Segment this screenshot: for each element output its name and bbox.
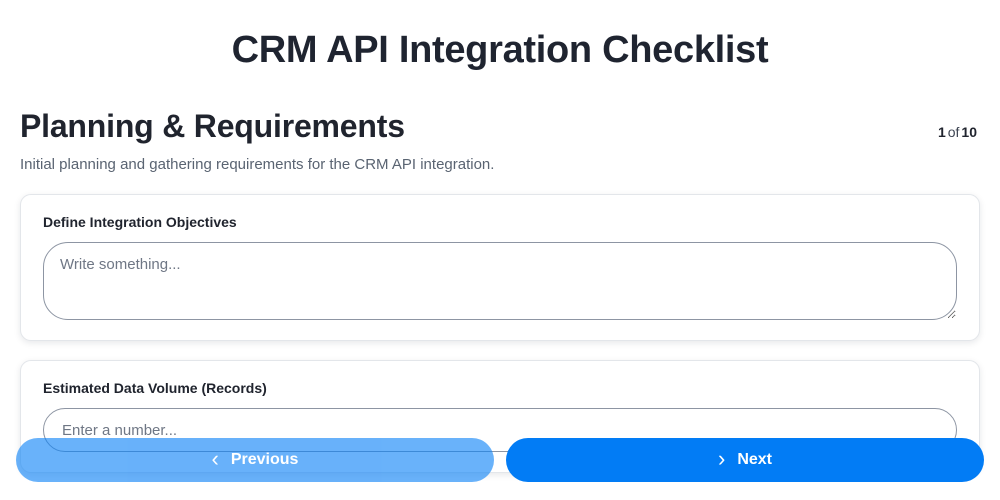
next-button[interactable]: › Next — [506, 438, 984, 482]
navigation-bar: ‹ Previous › Next — [0, 438, 1000, 500]
step-counter-separator: of — [946, 124, 962, 140]
field-card-objectives: Define Integration Objectives — [20, 194, 980, 341]
chevron-left-icon: ‹ — [212, 448, 219, 470]
previous-button-label: Previous — [231, 451, 299, 469]
objectives-textarea[interactable] — [43, 242, 957, 320]
step-counter-current: 1 — [938, 124, 946, 140]
section-title: Planning & Requirements — [20, 107, 405, 145]
field-label-objectives: Define Integration Objectives — [43, 213, 957, 231]
checklist-app: CRM API Integration Checklist Planning &… — [0, 0, 1000, 500]
step-counter: 1of10 — [938, 123, 980, 141]
section-description: Initial planning and gathering requireme… — [0, 145, 1000, 175]
next-button-label: Next — [737, 451, 772, 469]
chevron-right-icon: › — [718, 448, 725, 470]
step-counter-total: 10 — [961, 124, 977, 140]
field-card-list: Define Integration Objectives Estimated … — [0, 175, 1000, 473]
section-header: Planning & Requirements 1of10 — [0, 74, 1000, 145]
page-title: CRM API Integration Checklist — [0, 0, 1000, 74]
previous-button[interactable]: ‹ Previous — [16, 438, 494, 482]
field-label-data-volume: Estimated Data Volume (Records) — [43, 379, 957, 397]
